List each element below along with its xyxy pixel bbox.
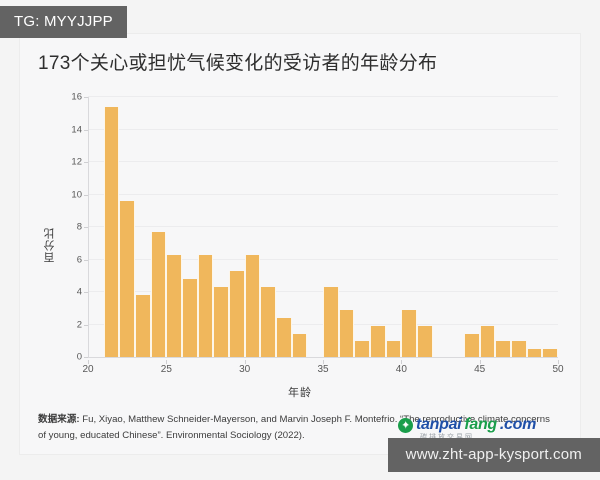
x-axis-tick-mark <box>401 360 402 364</box>
bar <box>182 279 198 357</box>
chart-card: 173个关心或担忧气候变化的受访者的年龄分布 百分比 0246810121416… <box>20 34 580 454</box>
y-axis-tick-label: 0 <box>77 352 82 363</box>
x-axis-tick-label: 40 <box>396 364 407 375</box>
bar <box>401 310 417 357</box>
bar <box>292 334 308 357</box>
watermark-brand-first: tanpai <box>416 416 461 434</box>
gridline <box>88 194 558 195</box>
y-axis-tick-label: 16 <box>71 92 82 103</box>
gridline <box>88 226 558 227</box>
source-note-prefix: 数据来源: <box>38 414 80 425</box>
y-axis-tick-label: 2 <box>77 319 82 330</box>
x-axis-tick-mark <box>323 360 324 364</box>
y-axis-ticks: 0246810121416 <box>58 97 82 357</box>
url-bar: www.zht-app-kysport.com <box>388 438 600 472</box>
x-axis-tick-mark <box>166 360 167 364</box>
x-axis-tick-mark <box>480 360 481 364</box>
y-axis-tick-label: 6 <box>77 254 82 265</box>
bar <box>198 255 214 357</box>
bar <box>119 201 135 357</box>
y-axis-line <box>88 97 89 358</box>
bar <box>527 349 543 357</box>
y-axis-tick-label: 4 <box>77 287 82 298</box>
x-axis-tick-mark <box>558 360 559 364</box>
x-axis-label: 年龄 <box>20 384 580 400</box>
bar <box>245 255 261 357</box>
watermark-brand-domain: .com <box>500 416 536 434</box>
bar <box>339 310 355 357</box>
y-axis-tick-label: 10 <box>71 189 82 200</box>
bar <box>135 295 151 357</box>
gridline <box>88 161 558 162</box>
x-axis-tick-label: 50 <box>552 364 563 375</box>
tg-badge: TG: MYYJJPP <box>0 6 127 38</box>
leaf-icon: ✦ <box>398 418 413 433</box>
bar <box>104 107 120 357</box>
page-background: TG: MYYJJPP 173个关心或担忧气候变化的受访者的年龄分布 百分比 0… <box>0 0 600 480</box>
y-axis-label: 百分比 <box>42 227 58 263</box>
x-axis-tick-label: 35 <box>317 364 328 375</box>
x-axis-tick-label: 45 <box>474 364 485 375</box>
y-axis-tick-label: 12 <box>71 157 82 168</box>
x-axis-line <box>88 357 558 358</box>
bar <box>323 287 339 357</box>
x-axis-tick-mark <box>245 360 246 364</box>
x-axis-tick-mark <box>88 360 89 364</box>
bar <box>417 326 433 357</box>
x-axis-tick-label: 25 <box>161 364 172 375</box>
bar <box>480 326 496 357</box>
bar <box>495 341 511 357</box>
bar <box>260 287 276 357</box>
plot-area <box>88 97 558 357</box>
bar <box>511 341 527 357</box>
y-axis-tick-label: 14 <box>71 124 82 135</box>
bar <box>276 318 292 357</box>
bar <box>370 326 386 357</box>
bar <box>229 271 245 357</box>
gridline <box>88 96 558 97</box>
chart-title: 173个关心或担忧气候变化的受访者的年龄分布 <box>38 48 437 75</box>
bar <box>354 341 370 357</box>
bar <box>464 334 480 357</box>
bar <box>151 232 167 357</box>
bar <box>166 255 182 357</box>
x-axis-tick-label: 20 <box>82 364 93 375</box>
bar <box>542 349 558 357</box>
x-axis-tick-label: 30 <box>239 364 250 375</box>
watermark-brand-second: fang <box>464 416 497 434</box>
tanpaifang-watermark: ✦ tanpaifang.com <box>398 416 536 434</box>
x-axis-ticks: 20253035404550 <box>88 360 558 380</box>
bar <box>386 341 402 357</box>
gridline <box>88 129 558 130</box>
bar <box>213 287 229 357</box>
y-axis-tick-label: 8 <box>77 222 82 233</box>
